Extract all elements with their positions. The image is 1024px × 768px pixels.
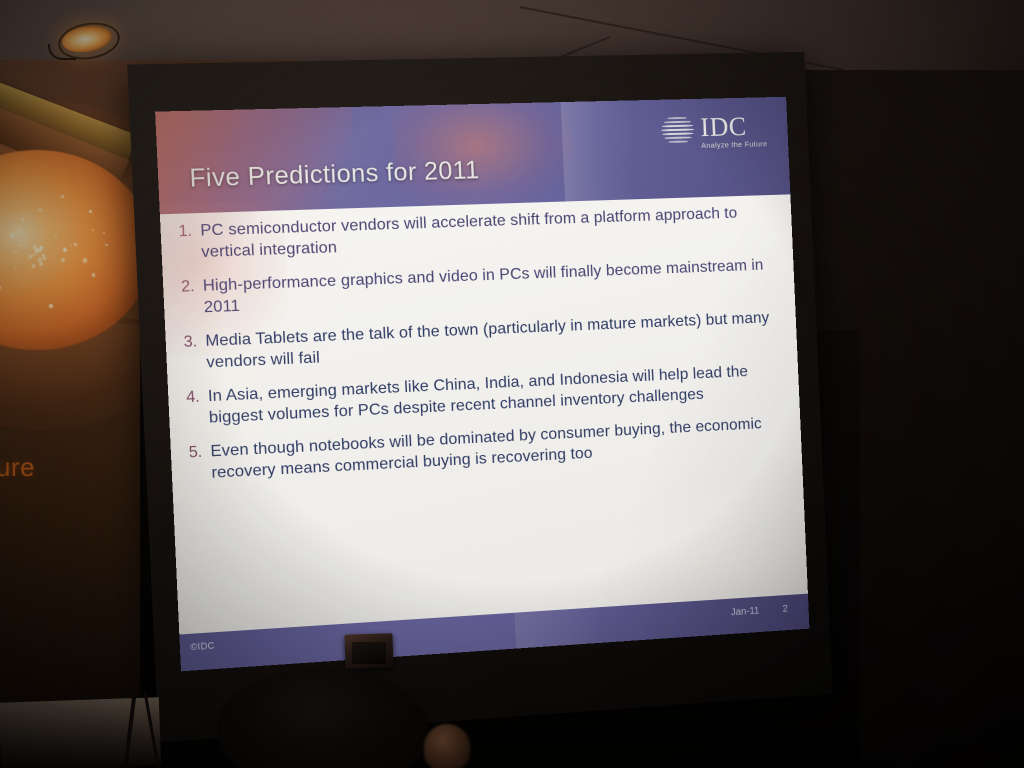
predictions-list: 1. PC semiconductor vendors will acceler… xyxy=(173,202,795,498)
foreground-ledge xyxy=(0,697,161,768)
chandelier-sparkle xyxy=(38,208,42,212)
list-item: 2. High-performance graphics and video i… xyxy=(175,255,787,319)
chandelier-sparkle xyxy=(12,214,14,216)
chandelier-sparkle xyxy=(43,257,46,260)
idc-logo: IDC Analyze the Future xyxy=(660,113,767,151)
chandelier-sparkle xyxy=(32,264,36,268)
idc-tagline: Analyze the Future xyxy=(701,139,767,150)
venue-signage-text: ure xyxy=(0,452,35,483)
chandelier-sparkle xyxy=(28,258,30,260)
chandelier-sparkle xyxy=(20,244,22,246)
list-item-text: PC semiconductor vendors will accelerate… xyxy=(200,202,785,263)
chandelier-sparkle xyxy=(0,286,1,289)
chandelier-sparkle xyxy=(63,248,67,252)
camera-lens-icon xyxy=(352,642,386,664)
list-item-number: 2. xyxy=(175,277,196,320)
chandelier-sparkle xyxy=(61,195,64,198)
chandelier-sparkle xyxy=(38,258,42,262)
slide-page-number: 2 xyxy=(782,604,788,615)
chandelier-sparkle xyxy=(83,258,87,262)
slide-body: 1. PC semiconductor vendors will acceler… xyxy=(160,194,808,634)
chandelier-sparkle xyxy=(103,232,106,235)
projector-glare xyxy=(391,97,575,213)
chandelier-sparkle xyxy=(92,273,96,277)
slide-date-label: Jan-11 xyxy=(731,606,760,619)
audience-hand xyxy=(424,724,470,768)
list-item-number: 1. xyxy=(173,221,194,264)
list-item-text: High-performance graphics and video in P… xyxy=(202,255,787,318)
chandelier-sparkle xyxy=(32,254,34,256)
chandelier-sparkle xyxy=(105,244,107,246)
chandelier-sparkle xyxy=(21,218,24,221)
chandelier-sparkle xyxy=(74,243,77,246)
screen-surface: Five Predictions for 2011 IDC xyxy=(155,97,809,672)
list-item-number: 4. xyxy=(180,387,201,430)
photo-scene: ure Five Predictions for 2011 xyxy=(0,0,1024,768)
projection-screen: Five Predictions for 2011 IDC xyxy=(150,58,830,718)
chandelier-sparkle xyxy=(17,228,20,231)
chandelier-sparkle xyxy=(40,246,42,248)
projector-streak xyxy=(515,607,605,649)
idc-globe-icon xyxy=(660,115,694,145)
chandelier-sparkle xyxy=(16,252,18,254)
chandelier-sparkle xyxy=(70,244,72,246)
chandelier-sparkle xyxy=(49,304,53,308)
idc-wordmark: IDC xyxy=(700,113,747,140)
presentation-slide: Five Predictions for 2011 IDC xyxy=(155,97,809,672)
chandelier-sparkle xyxy=(55,236,57,238)
chandelier-sparkle xyxy=(62,263,64,265)
chandelier-sparkle xyxy=(10,233,14,237)
list-item-number: 5. xyxy=(183,442,204,485)
chandelier-sparkle xyxy=(0,231,2,233)
projector-streak xyxy=(561,100,638,201)
chandelier-sparkle xyxy=(61,258,65,262)
chandelier-sparkle xyxy=(14,266,16,268)
chandelier-sparkle xyxy=(39,262,43,266)
copyright-label: ©IDC xyxy=(190,640,215,652)
chandelier-sparkle xyxy=(89,210,93,214)
list-item-number: 3. xyxy=(178,332,199,375)
chandelier-sparkle xyxy=(24,246,26,248)
chandelier-sparkle xyxy=(92,229,94,231)
